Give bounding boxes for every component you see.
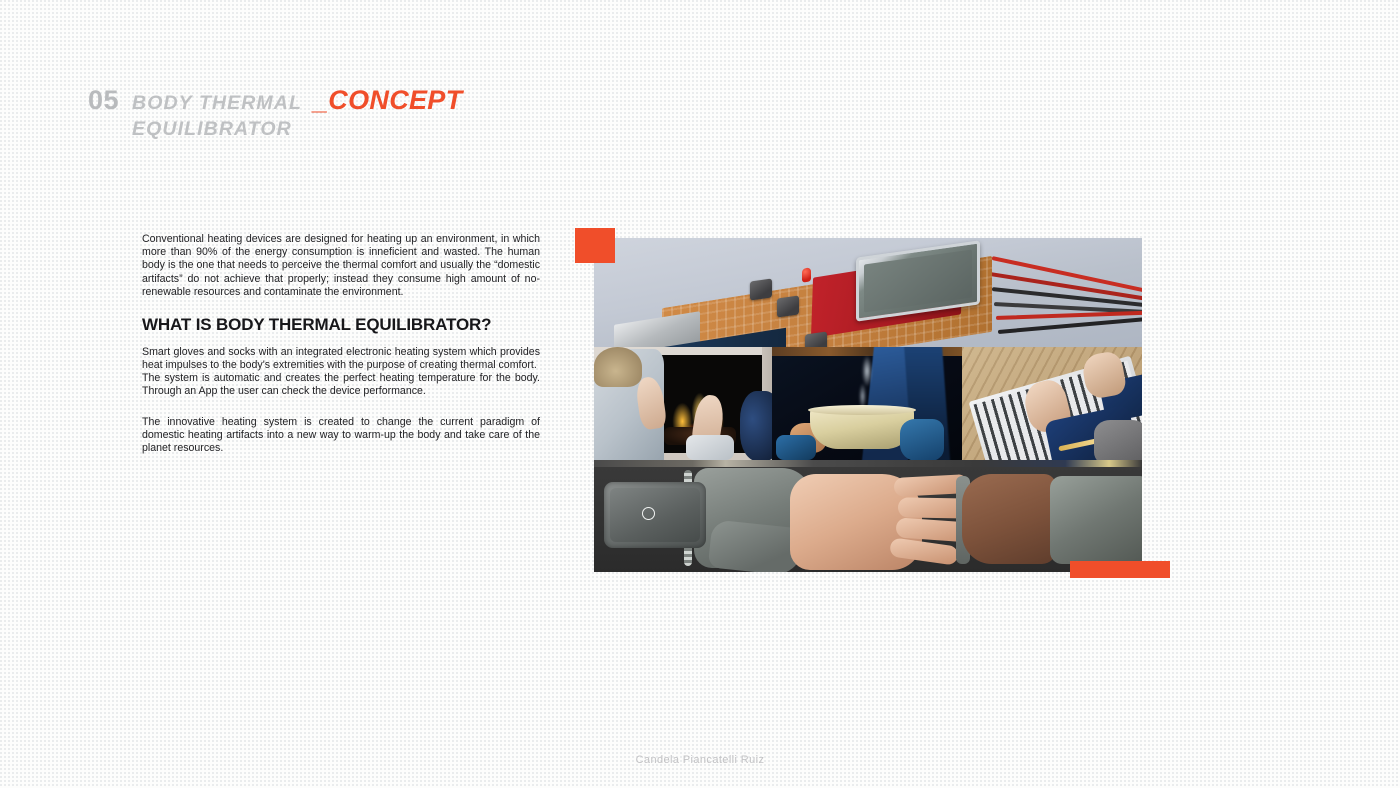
intro-paragraph: Conventional heating devices are designe… <box>142 233 540 299</box>
blue-fabric-corner <box>740 391 772 460</box>
slide-title-block: BODY THERMAL _CONCEPT EQUILIBRATOR <box>132 86 462 142</box>
second-glove <box>1050 476 1142 564</box>
blue-glove <box>900 419 944 460</box>
accent-bar-bottom-right <box>1070 561 1170 578</box>
black-wire <box>998 317 1142 334</box>
footer-credit: Candela Piancatelli Ruiz <box>0 754 1400 766</box>
section-heading: WHAT IS BODY THERMAL EQUILIBRATOR? <box>142 316 540 335</box>
slide-subject-line-1: BODY THERMAL <box>132 91 302 115</box>
electronics-prototype-photo <box>594 238 1142 347</box>
mug-scene <box>772 347 962 460</box>
fireplace-scene <box>594 347 772 460</box>
steam-wisp <box>856 353 878 413</box>
mug-rim <box>808 405 916 415</box>
blue-glove <box>776 435 816 460</box>
hair <box>594 347 642 387</box>
tactile-button <box>805 331 827 347</box>
red-led <box>802 267 811 282</box>
slide-subject-line-2: EQUILIBRATOR <box>132 117 462 141</box>
fireplace-photo <box>594 347 772 460</box>
render-top-strip <box>594 460 1142 467</box>
power-button-icon <box>642 507 655 520</box>
sleeve-cuff <box>686 435 734 460</box>
usb-port <box>614 311 700 347</box>
grey-corner <box>1094 420 1142 460</box>
tactile-button <box>750 278 772 300</box>
smart-glove-render <box>594 460 1142 572</box>
slide-accent-word: _CONCEPT <box>313 87 462 114</box>
image-collage <box>594 238 1142 572</box>
steaming-mug-photo <box>772 347 962 460</box>
slide-title-line-1: BODY THERMAL _CONCEPT <box>132 87 462 115</box>
body-text-column: Conventional heating devices are designe… <box>142 233 540 455</box>
slide-header: 05 BODY THERMAL _CONCEPT EQUILIBRATOR <box>88 86 462 142</box>
slide-number: 05 <box>88 86 119 115</box>
definition-paragraph: Smart gloves and socks with an integrate… <box>142 346 540 399</box>
collage-top-row <box>594 238 1142 347</box>
collage-bottom-row <box>594 460 1142 572</box>
electronics-module <box>604 482 706 548</box>
accent-square-top-left <box>575 228 615 263</box>
second-hand-wrist <box>962 474 1056 564</box>
innovation-paragraph: The innovative heating system is created… <box>142 416 540 456</box>
radiator-photo <box>962 347 1142 460</box>
lcd-inner-panel <box>864 249 972 312</box>
tactile-button <box>777 295 799 317</box>
collage-middle-row <box>594 347 1142 460</box>
mug <box>810 409 914 449</box>
module-face <box>610 488 700 542</box>
radiator-scene <box>962 347 1142 460</box>
